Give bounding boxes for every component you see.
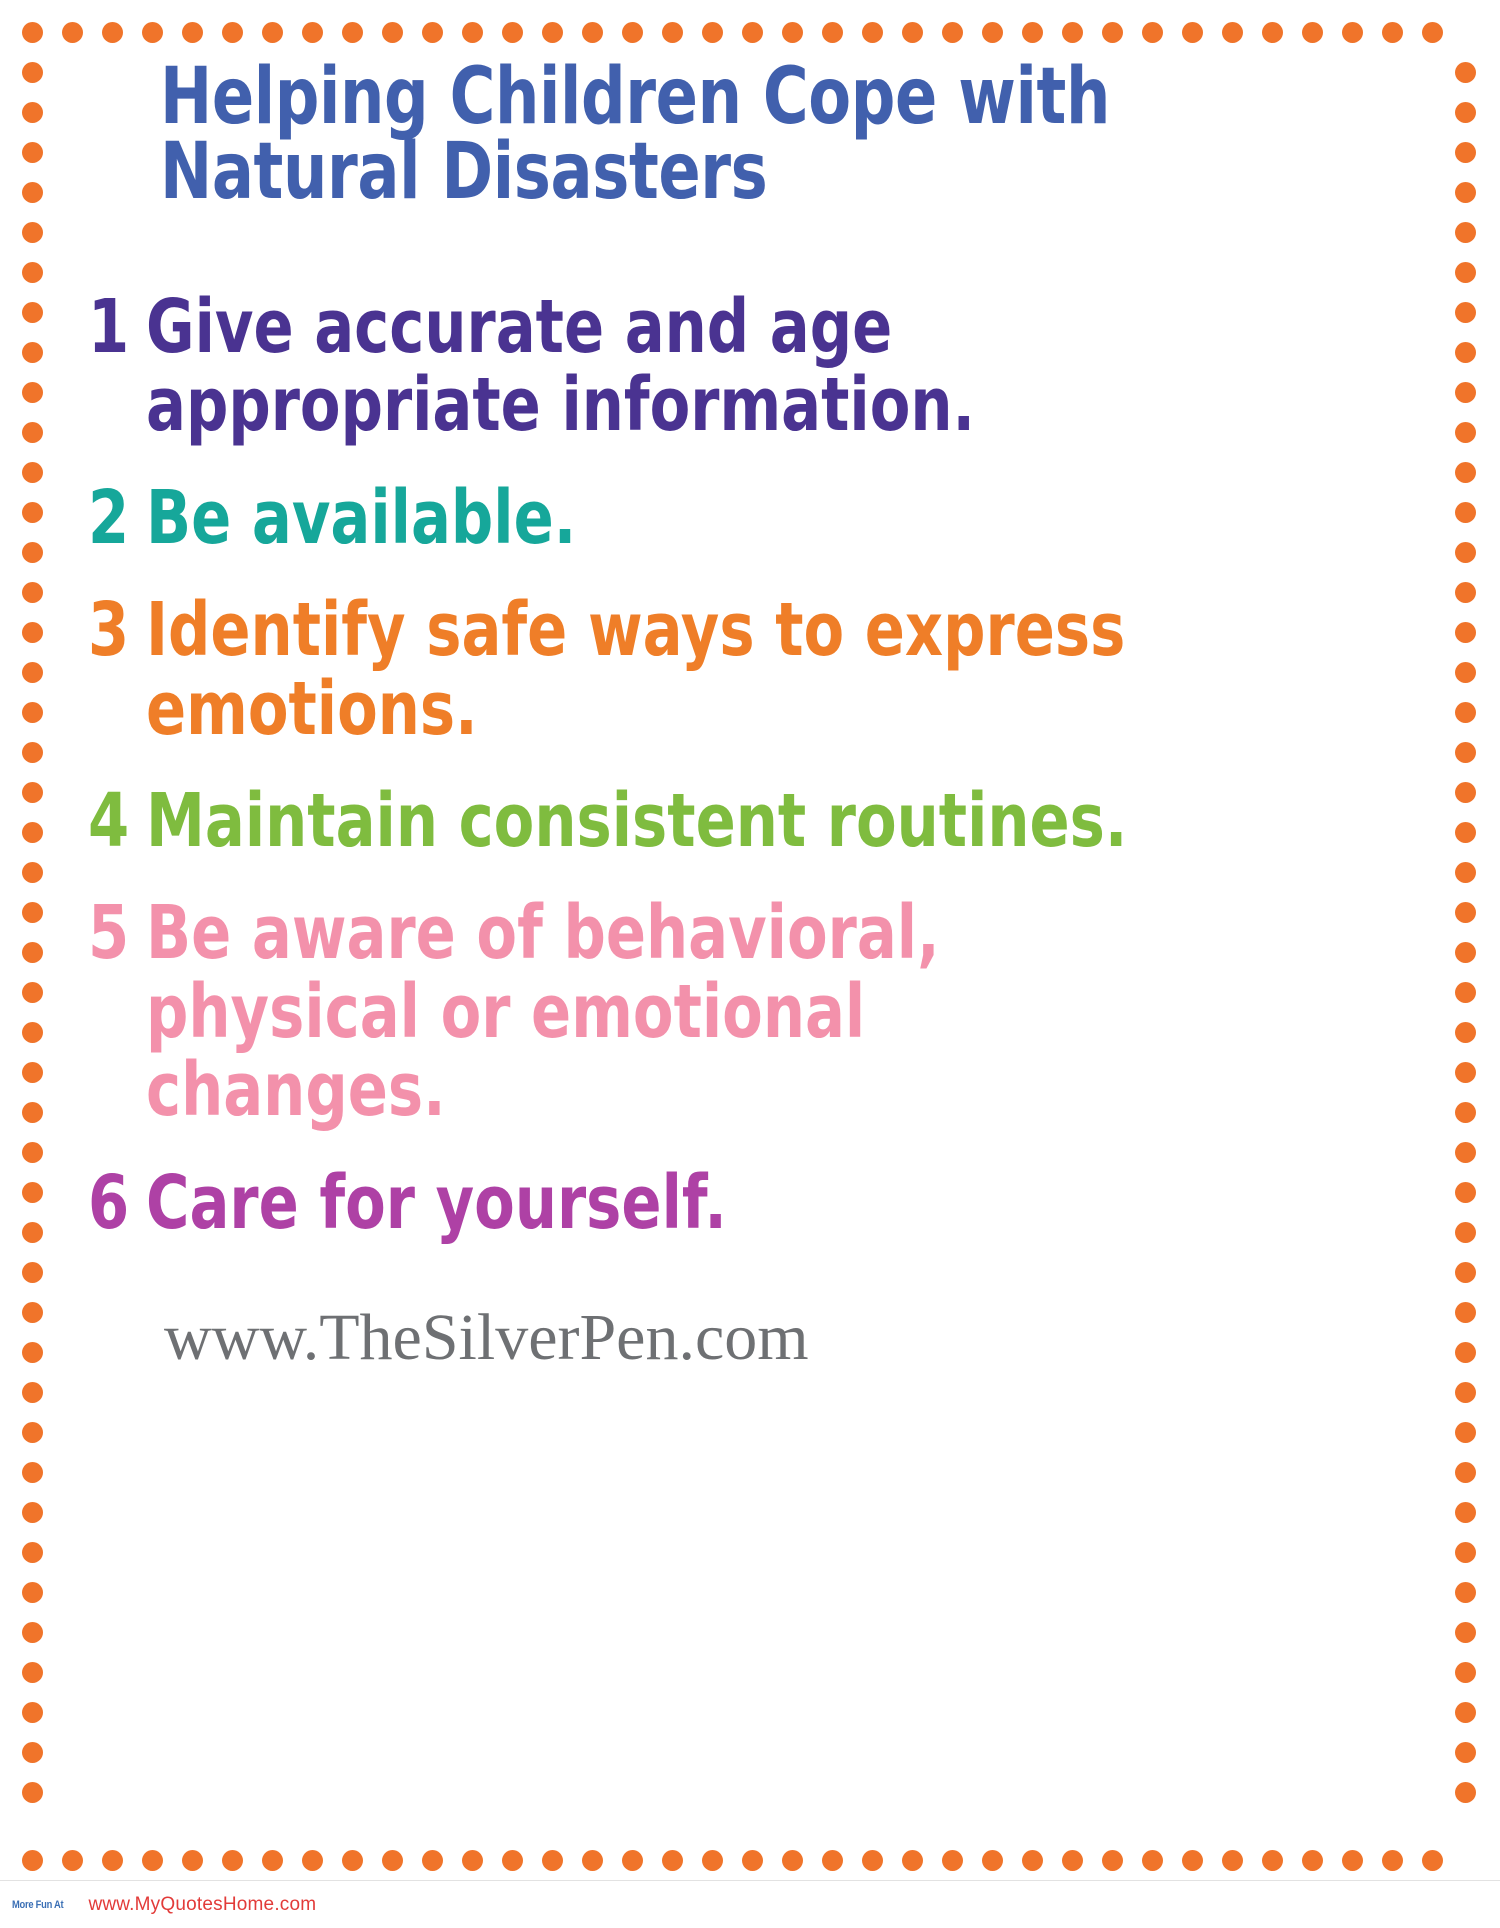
watermark-url[interactable]: www.MyQuotesHome.com: [88, 1894, 316, 1916]
tip-text: Be aware of behavioral, physical or emot…: [146, 894, 1132, 1129]
border-dot-left: [22, 582, 43, 603]
border-dot-top: [1102, 22, 1123, 43]
border-dot-bottom: [742, 1850, 763, 1871]
border-dot-left: [22, 1222, 43, 1243]
border-dot-top: [1182, 22, 1203, 43]
page-title: Helping Children Cope with Natural Disas…: [160, 60, 1408, 210]
border-dot-bottom: [1022, 1850, 1043, 1871]
border-dot-bottom: [1382, 1850, 1403, 1871]
border-dot-left: [22, 142, 43, 163]
border-dot-left: [22, 1422, 43, 1443]
tip-text: Be available.: [146, 479, 1132, 557]
border-dot-right: [1455, 1662, 1476, 1683]
watermark-bar: More Fun At www.MyQuotesHome.com: [0, 1880, 1500, 1928]
border-dot-left: [22, 822, 43, 843]
border-dot-right: [1455, 702, 1476, 723]
border-dot-top: [742, 22, 763, 43]
border-dot-left: [22, 1742, 43, 1763]
tip-text: Give accurate and age appropriate inform…: [146, 288, 1132, 445]
border-dot-top: [1062, 22, 1083, 43]
border-dot-bottom: [422, 1850, 443, 1871]
border-dot-right: [1455, 302, 1476, 323]
border-dot-bottom: [542, 1850, 563, 1871]
border-dot-bottom: [22, 1850, 43, 1871]
border-dot-right: [1455, 1502, 1476, 1523]
border-dot-left: [22, 1542, 43, 1563]
border-dot-right: [1455, 1422, 1476, 1443]
border-dot-left: [22, 222, 43, 243]
border-dot-bottom: [702, 1850, 723, 1871]
border-dot-top: [862, 22, 883, 43]
tip-number: 3: [88, 591, 130, 669]
border-dot-right: [1455, 1342, 1476, 1363]
border-dot-left: [22, 982, 43, 1003]
border-dot-right: [1455, 422, 1476, 443]
border-dot-right: [1455, 1102, 1476, 1123]
border-dot-top: [782, 22, 803, 43]
border-dot-bottom: [1422, 1850, 1443, 1871]
border-dot-left: [22, 1062, 43, 1083]
border-dot-top: [222, 22, 243, 43]
border-dot-left: [22, 942, 43, 963]
border-dot-left: [22, 1022, 43, 1043]
border-dot-bottom: [382, 1850, 403, 1871]
border-dot-right: [1455, 1462, 1476, 1483]
tip-text: Care for yourself.: [146, 1164, 1132, 1242]
border-dot-right: [1455, 1582, 1476, 1603]
border-dot-left: [22, 422, 43, 443]
border-dot-left: [22, 782, 43, 803]
border-dot-right: [1455, 1622, 1476, 1643]
border-dot-right: [1455, 862, 1476, 883]
border-dot-bottom: [502, 1850, 523, 1871]
border-dot-bottom: [1062, 1850, 1083, 1871]
border-dot-right: [1455, 462, 1476, 483]
border-dot-right: [1455, 942, 1476, 963]
tip-number: 5: [88, 894, 130, 972]
border-dot-right: [1455, 542, 1476, 563]
border-dot-top: [182, 22, 203, 43]
border-dot-top: [1022, 22, 1043, 43]
border-dot-top: [542, 22, 563, 43]
border-dot-left: [22, 1182, 43, 1203]
list-item: 5 Be aware of behavioral, physical or em…: [88, 894, 1378, 1129]
border-dot-top: [462, 22, 483, 43]
border-dot-bottom: [62, 1850, 83, 1871]
border-dot-bottom: [662, 1850, 683, 1871]
border-dot-bottom: [142, 1850, 163, 1871]
border-dot-left: [22, 182, 43, 203]
list-item: 4 Maintain consistent routines.: [88, 782, 1378, 860]
border-dot-right: [1455, 102, 1476, 123]
border-dot-left: [22, 742, 43, 763]
border-dot-bottom: [222, 1850, 243, 1871]
border-dot-bottom: [822, 1850, 843, 1871]
border-dot-right: [1455, 902, 1476, 923]
border-dot-bottom: [902, 1850, 923, 1871]
border-dot-top: [662, 22, 683, 43]
tip-number: 4: [88, 782, 130, 860]
border-dot-left: [22, 262, 43, 283]
watermark-prefix-label: More Fun At: [12, 1899, 63, 1911]
border-dot-bottom: [1262, 1850, 1283, 1871]
border-dot-left: [22, 862, 43, 883]
border-dot-left: [22, 382, 43, 403]
border-dot-right: [1455, 1022, 1476, 1043]
border-dot-right: [1455, 142, 1476, 163]
border-dot-top: [142, 22, 163, 43]
border-dot-left: [22, 1102, 43, 1123]
border-dot-left: [22, 1782, 43, 1803]
border-dot-bottom: [942, 1850, 963, 1871]
border-dot-top: [502, 22, 523, 43]
border-dot-bottom: [1182, 1850, 1203, 1871]
border-dot-left: [22, 462, 43, 483]
border-dot-right: [1455, 1302, 1476, 1323]
border-dot-right: [1455, 662, 1476, 683]
source-website-url: www.TheSilverPen.com: [164, 1300, 1378, 1376]
tip-text: Maintain consistent routines.: [146, 782, 1132, 860]
list-item: 6 Care for yourself.: [88, 1164, 1378, 1242]
border-dot-top: [622, 22, 643, 43]
tips-list: 1 Give accurate and age appropriate info…: [88, 288, 1378, 1376]
border-dot-left: [22, 342, 43, 363]
border-dot-left: [22, 1342, 43, 1363]
border-dot-right: [1455, 1382, 1476, 1403]
border-dot-right: [1455, 622, 1476, 643]
border-dot-right: [1455, 222, 1476, 243]
border-dot-top: [422, 22, 443, 43]
border-dot-left: [22, 302, 43, 323]
border-dot-right: [1455, 342, 1476, 363]
border-dot-left: [22, 662, 43, 683]
border-dot-left: [22, 1622, 43, 1643]
border-dot-top: [1142, 22, 1163, 43]
border-dot-right: [1455, 382, 1476, 403]
border-dot-top: [342, 22, 363, 43]
border-dot-bottom: [1142, 1850, 1163, 1871]
border-dot-right: [1455, 502, 1476, 523]
border-dot-left: [22, 502, 43, 523]
tip-text: Identify safe ways to express emotions.: [146, 591, 1132, 748]
border-dot-bottom: [462, 1850, 483, 1871]
border-dot-top: [1302, 22, 1323, 43]
border-dot-top: [262, 22, 283, 43]
border-dot-bottom: [862, 1850, 883, 1871]
border-dot-left: [22, 542, 43, 563]
border-dot-right: [1455, 782, 1476, 803]
tip-number: 2: [88, 479, 130, 557]
border-dot-top: [702, 22, 723, 43]
border-dot-top: [942, 22, 963, 43]
border-dot-bottom: [102, 1850, 123, 1871]
border-dot-bottom: [782, 1850, 803, 1871]
border-dot-bottom: [302, 1850, 323, 1871]
border-dot-right: [1455, 982, 1476, 1003]
border-dot-bottom: [582, 1850, 603, 1871]
border-dot-top: [982, 22, 1003, 43]
poster-content: Helping Children Cope with Natural Disas…: [88, 60, 1378, 1298]
border-dot-top: [582, 22, 603, 43]
border-dot-left: [22, 1702, 43, 1723]
border-dot-bottom: [1342, 1850, 1363, 1871]
border-dot-right: [1455, 182, 1476, 203]
border-dot-right: [1455, 1222, 1476, 1243]
border-dot-right: [1455, 1542, 1476, 1563]
border-dot-right: [1455, 582, 1476, 603]
border-dot-right: [1455, 742, 1476, 763]
border-dot-top: [102, 22, 123, 43]
border-dot-left: [22, 1502, 43, 1523]
list-item: 1 Give accurate and age appropriate info…: [88, 288, 1378, 445]
border-dot-left: [22, 62, 43, 83]
border-dot-bottom: [342, 1850, 363, 1871]
list-item: 2 Be available.: [88, 479, 1378, 557]
border-dot-top: [822, 22, 843, 43]
border-dot-left: [22, 1382, 43, 1403]
border-dot-top: [1262, 22, 1283, 43]
border-dot-top: [62, 22, 83, 43]
border-dot-right: [1455, 62, 1476, 83]
border-dot-left: [22, 702, 43, 723]
border-dot-left: [22, 1582, 43, 1603]
border-dot-right: [1455, 822, 1476, 843]
border-dot-bottom: [262, 1850, 283, 1871]
list-item: 3 Identify safe ways to express emotions…: [88, 591, 1378, 748]
border-dot-right: [1455, 1782, 1476, 1803]
border-dot-top: [382, 22, 403, 43]
border-dot-bottom: [1102, 1850, 1123, 1871]
tip-number: 6: [88, 1164, 130, 1242]
border-dot-bottom: [622, 1850, 643, 1871]
border-dot-bottom: [982, 1850, 1003, 1871]
border-dot-bottom: [1222, 1850, 1243, 1871]
border-dot-top: [1382, 22, 1403, 43]
poster-canvas: Helping Children Cope with Natural Disas…: [0, 0, 1500, 1880]
border-dot-right: [1455, 1182, 1476, 1203]
border-dot-top: [1222, 22, 1243, 43]
border-dot-left: [22, 622, 43, 643]
border-dot-right: [1455, 1742, 1476, 1763]
tip-number: 1: [88, 288, 130, 366]
border-dot-left: [22, 1662, 43, 1683]
border-dot-left: [22, 1462, 43, 1483]
border-dot-left: [22, 902, 43, 923]
border-dot-right: [1455, 1142, 1476, 1163]
border-dot-left: [22, 102, 43, 123]
border-dot-right: [1455, 1702, 1476, 1723]
border-dot-left: [22, 1262, 43, 1283]
border-dot-right: [1455, 1062, 1476, 1083]
border-dot-bottom: [182, 1850, 203, 1871]
border-dot-right: [1455, 1262, 1476, 1283]
border-dot-top: [22, 22, 43, 43]
border-dot-top: [1422, 22, 1443, 43]
border-dot-left: [22, 1302, 43, 1323]
border-dot-top: [1342, 22, 1363, 43]
border-dot-right: [1455, 262, 1476, 283]
border-dot-top: [302, 22, 323, 43]
border-dot-left: [22, 1142, 43, 1163]
border-dot-bottom: [1302, 1850, 1323, 1871]
border-dot-top: [902, 22, 923, 43]
